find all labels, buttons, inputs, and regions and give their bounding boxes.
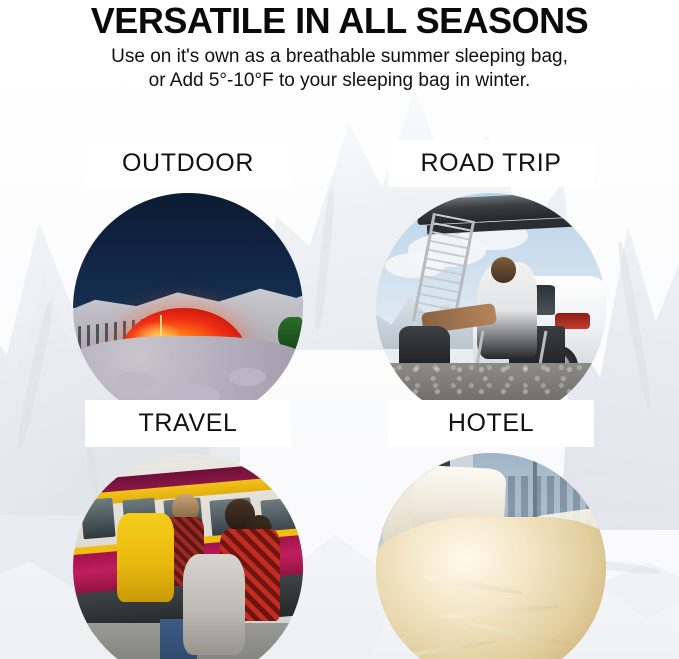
use-case-card-outdoor: OUTDOOR [38, 140, 338, 400]
subtitle-line-1: Use on it's own as a breathable summer s… [40, 45, 640, 69]
snow-lump [114, 372, 155, 393]
travel-photo [73, 453, 303, 659]
train-window [81, 498, 116, 540]
outdoor-photo [73, 193, 303, 423]
road-trip-photo [376, 193, 606, 423]
label-box-hotel: HOTEL [388, 400, 594, 447]
use-case-grid: OUTDOOR [0, 0, 679, 659]
header: VERSATILE IN ALL SEASONS Use on it's own… [0, 0, 679, 93]
use-case-label: OUTDOOR [122, 149, 254, 178]
subtitle-line-2: or Add 5°-10°F to your sleeping bag in w… [40, 69, 640, 93]
grey-backpack [183, 554, 245, 655]
use-case-label: ROAD TRIP [420, 149, 561, 178]
page-title: VERSATILE IN ALL SEASONS [0, 0, 679, 40]
use-case-label: TRAVEL [139, 409, 238, 438]
use-case-card-road-trip: ROAD TRIP [341, 140, 641, 400]
subtitle: Use on it's own as a breathable summer s… [40, 45, 640, 94]
yellow-backpack [117, 513, 175, 603]
promo-banner: VERSATILE IN ALL SEASONS Use on it's own… [0, 0, 679, 659]
hotel-photo [376, 453, 606, 659]
use-case-card-travel: TRAVEL [38, 400, 338, 659]
label-box-road-trip: ROAD TRIP [388, 140, 594, 187]
person-head [491, 257, 516, 282]
use-case-label: HOTEL [448, 409, 534, 438]
night-sky [73, 193, 303, 308]
use-case-card-hotel: HOTEL [341, 400, 641, 659]
label-box-outdoor: OUTDOOR [85, 140, 291, 187]
label-box-travel: TRAVEL [85, 400, 291, 447]
duffel-bag [399, 326, 450, 367]
